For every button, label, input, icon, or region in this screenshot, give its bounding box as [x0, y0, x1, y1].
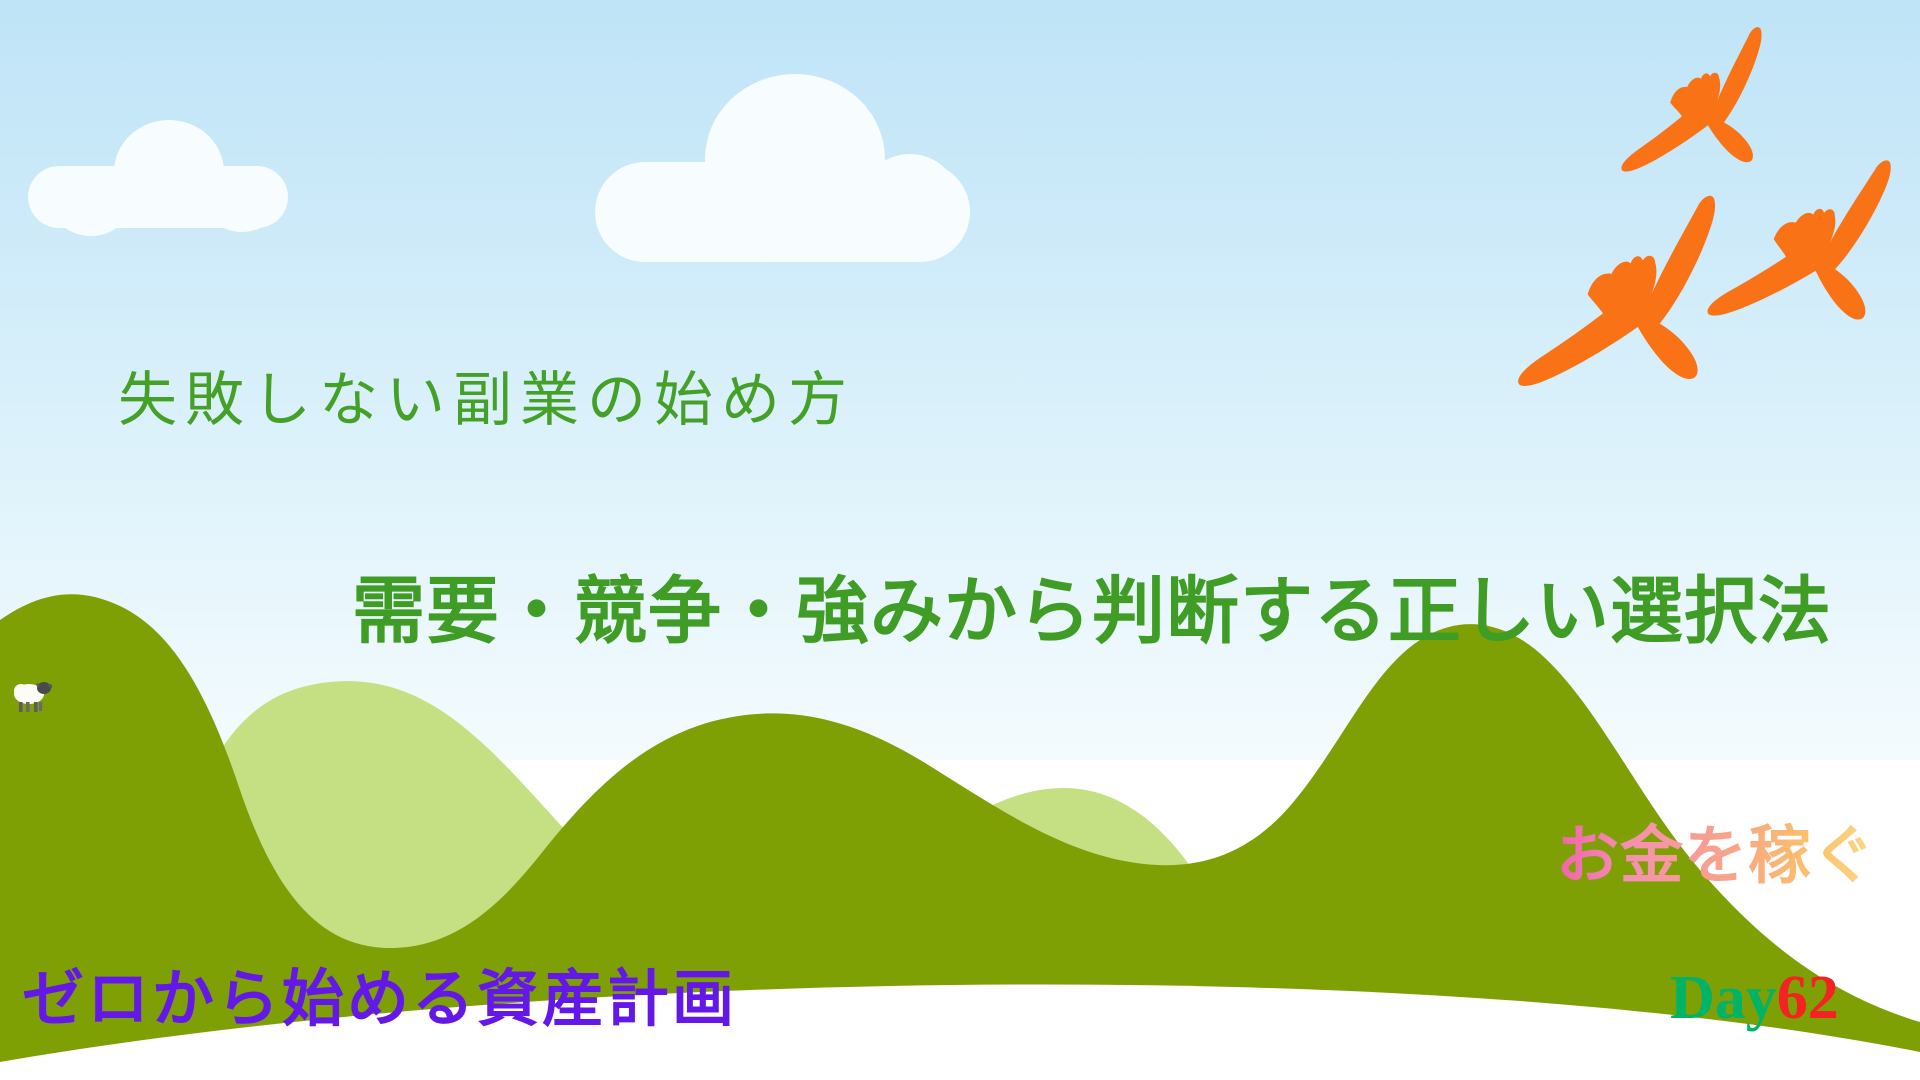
page-title: 需要・競争・強みから判断する正しい選択法 — [352, 552, 1832, 658]
day-counter: Day62 — [1670, 963, 1839, 1034]
brand-name: ゼロから始める資産計画 — [22, 948, 737, 1038]
banner-canvas: 失敗しない副業の始め方 需要・競争・強みから判断する正しい選択法 ゼロから始める… — [0, 0, 1920, 1080]
day-number: 62 — [1777, 964, 1839, 1032]
day-label: Day — [1670, 964, 1777, 1032]
banner-subtitle: 失敗しない副業の始め方 — [118, 352, 855, 437]
tagline-text: お金を稼ぐ — [1556, 805, 1876, 896]
sheep-icon — [8, 674, 58, 716]
hill-icon — [0, 0, 1920, 1080]
